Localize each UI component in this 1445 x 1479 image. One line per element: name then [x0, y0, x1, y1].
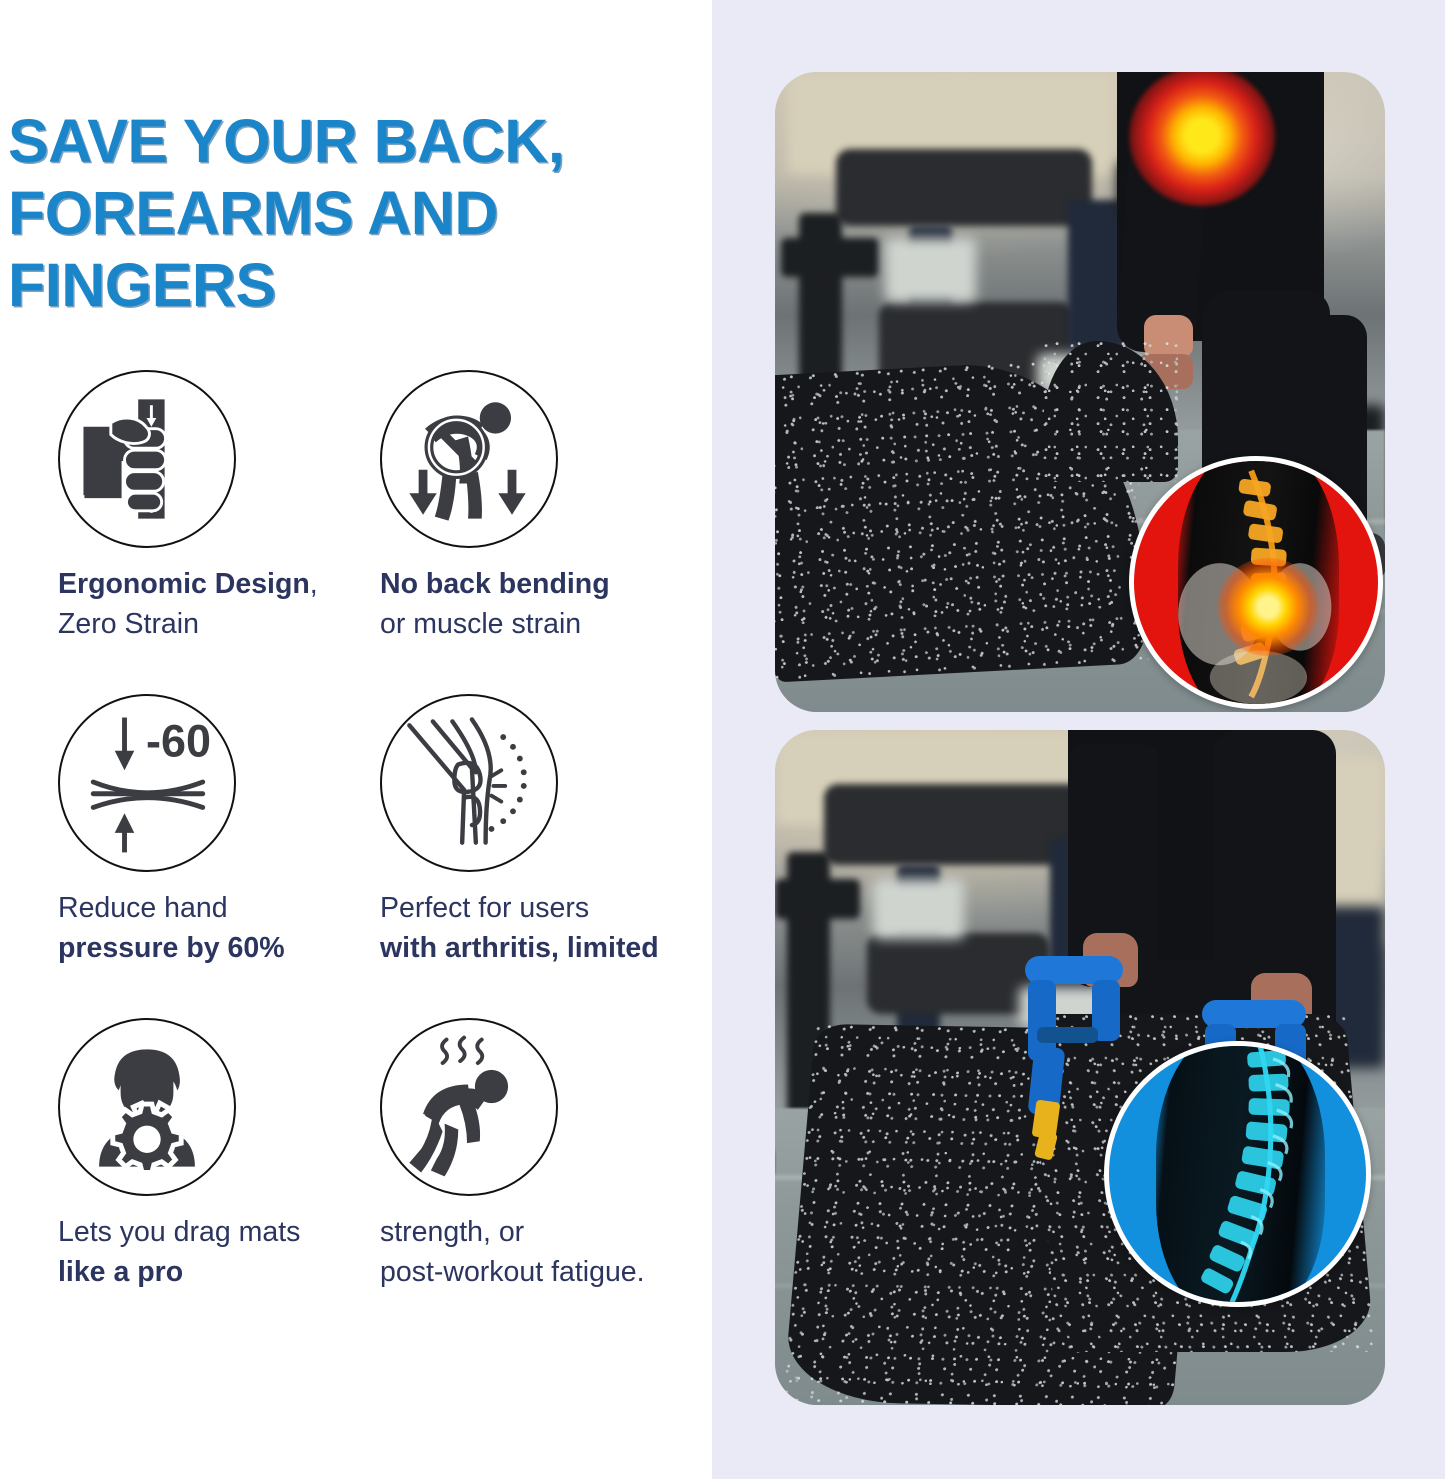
inset-healthy-spine: [1104, 1041, 1370, 1308]
knee-joint-arthritis-icon: [380, 694, 558, 872]
right-photo-panel: [712, 0, 1445, 1479]
hand-grip-pressure-icon: [58, 370, 236, 548]
pressure-reduction-60-icon: -60: [58, 694, 236, 872]
feature-item-arthritis: Perfect for users with arthritis, limite…: [356, 694, 712, 968]
feature-caption-bold: Ergonomic Design: [58, 568, 310, 600]
feature-caption: No back bending or muscle strain: [380, 564, 710, 644]
photo-lifting-mat-by-hand: [775, 72, 1385, 712]
feature-caption-bold: No back bending: [380, 568, 610, 600]
left-content-panel: SAVE YOUR BACK, FOREARMS AND FINGERS: [0, 0, 712, 1479]
feature-row-1: Ergonomic Design, Zero Strain: [0, 370, 712, 644]
feature-caption: strength, or post-workout fatigue.: [380, 1212, 710, 1292]
feature-caption: Ergonomic Design, Zero Strain: [58, 564, 388, 644]
feature-row-2: -60: [0, 694, 712, 968]
feature-item-ergonomic-design: Ergonomic Design, Zero Strain: [0, 370, 356, 644]
feature-caption-bold: like a pro: [58, 1256, 183, 1288]
infographic-page: SAVE YOUR BACK, FOREARMS AND FINGERS: [0, 0, 1445, 1479]
tired-person-fatigue-icon: [380, 1018, 558, 1196]
feature-caption-line1: Perfect for users: [380, 888, 710, 928]
photo-carrying-mat-with-clamps: [775, 730, 1385, 1405]
feature-caption-line2: or muscle strain: [380, 604, 710, 644]
feature-item-no-back-bending: No back bending or muscle strain: [356, 370, 712, 644]
feature-caption: Lets you drag mats like a pro: [58, 1212, 388, 1292]
feature-caption: Perfect for users with arthritis, limite…: [380, 888, 710, 968]
feature-caption-line2: post-workout fatigue.: [380, 1252, 710, 1292]
feature-caption: Reduce hand pressure by 60%: [58, 888, 388, 968]
feature-caption-rest: ,: [310, 568, 318, 600]
feature-caption-bold: pressure by 60%: [58, 932, 285, 964]
feature-grid: Ergonomic Design, Zero Strain: [0, 370, 712, 1292]
svg-text:-60: -60: [146, 716, 211, 767]
no-back-bending-icon: [380, 370, 558, 548]
feature-item-drag-like-pro: Lets you drag mats like a pro: [0, 1018, 356, 1292]
feature-item-fatigue: strength, or post-workout fatigue.: [356, 1018, 712, 1292]
inset-painful-spine: [1129, 456, 1383, 709]
feature-caption-line2: Zero Strain: [58, 604, 388, 644]
user-gear-pro-icon: [58, 1018, 236, 1196]
feature-caption-line1: strength, or: [380, 1212, 710, 1252]
page-headline: SAVE YOUR BACK, FOREARMS AND FINGERS: [8, 105, 708, 321]
feature-caption-line1: Reduce hand: [58, 888, 388, 928]
feature-row-3: Lets you drag mats like a pro: [0, 1018, 712, 1292]
feature-caption-line1: Lets you drag mats: [58, 1212, 388, 1252]
feature-caption-bold: with arthritis, limited: [380, 932, 659, 964]
feature-item-pressure-reduction: -60: [0, 694, 356, 968]
